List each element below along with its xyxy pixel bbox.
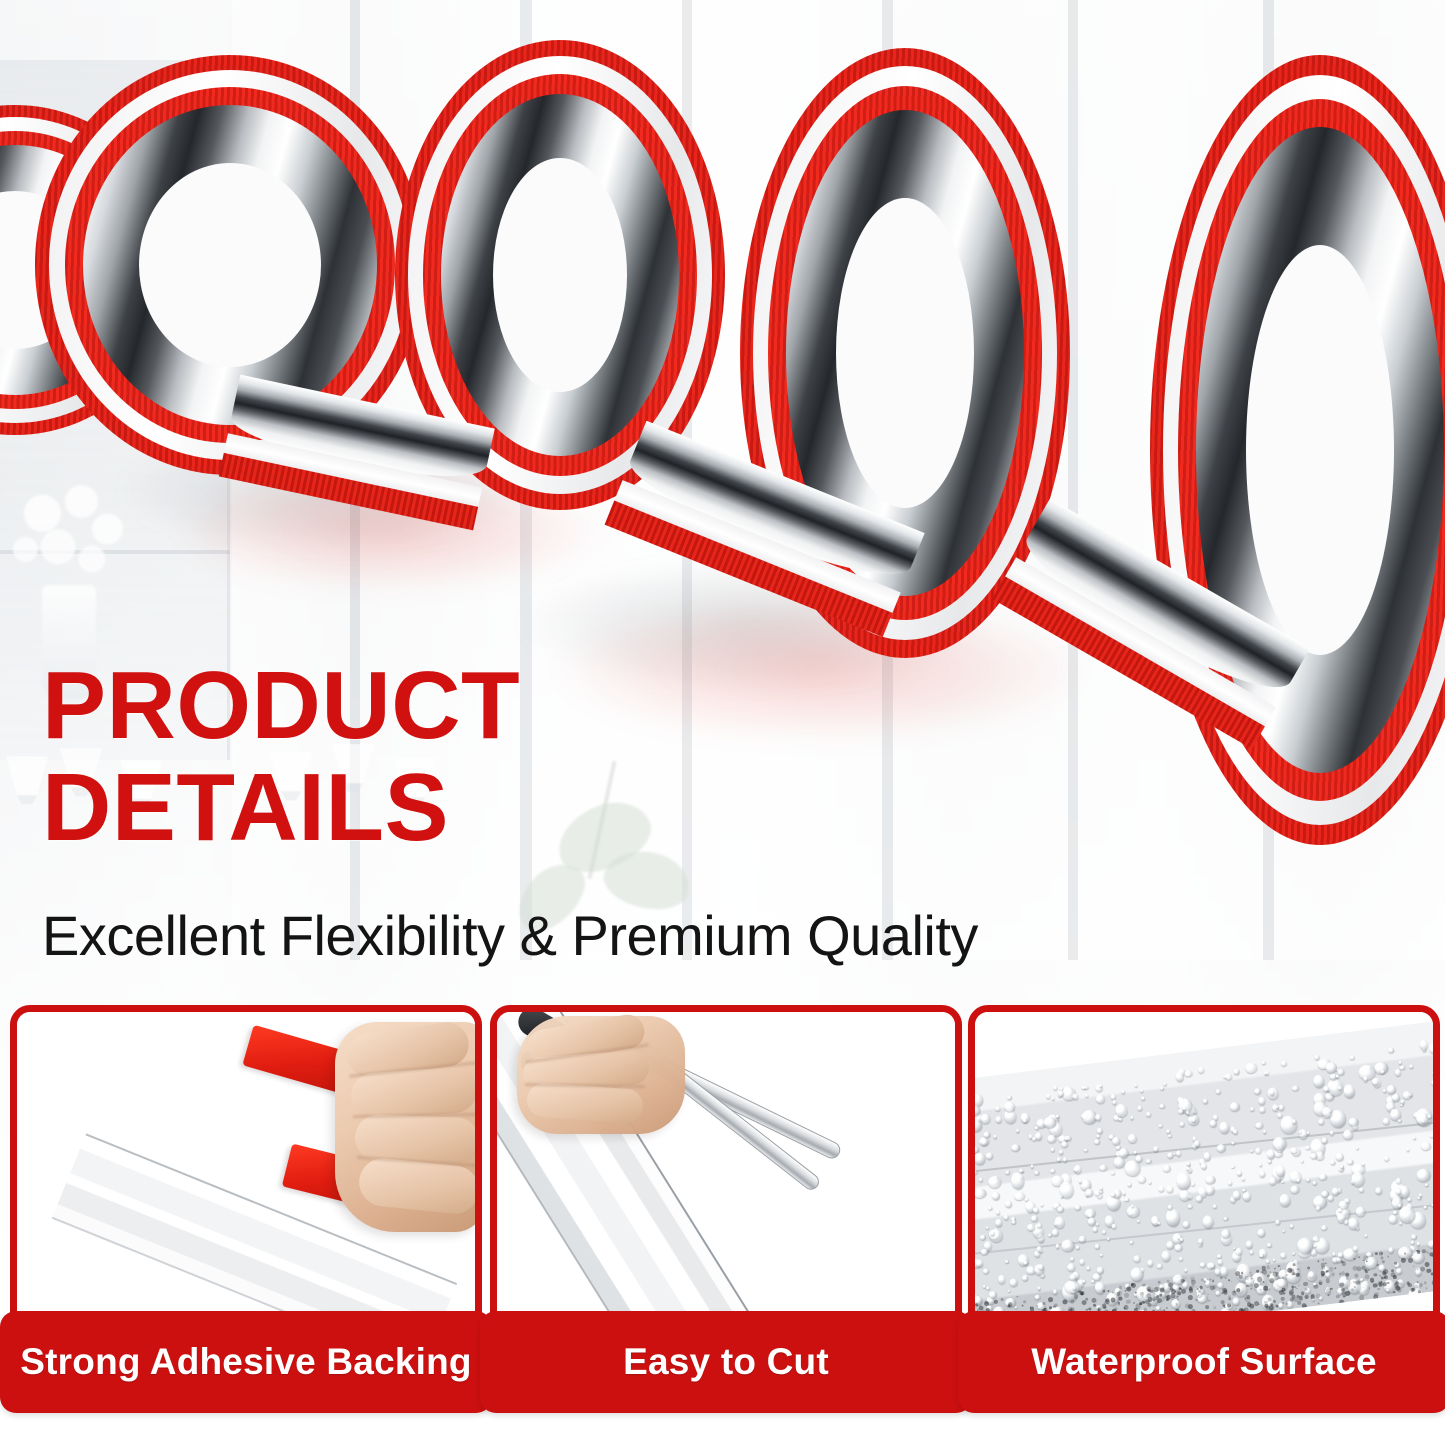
wet-chrome-surface bbox=[975, 1015, 1433, 1349]
page-title: PRODUCT DETAILS bbox=[42, 655, 520, 859]
feature-panel-cut[interactable]: Easy to Cut bbox=[490, 1005, 962, 1413]
feature-panel-adhesive[interactable]: Strong Adhesive Backing bbox=[10, 1005, 482, 1413]
page-title-line-2: DETAILS bbox=[42, 757, 520, 859]
panel-caption-bar: Waterproof Surface bbox=[958, 1311, 1445, 1413]
panel-caption-text: Easy to Cut bbox=[623, 1341, 829, 1383]
panel-caption-bar: Easy to Cut bbox=[480, 1311, 972, 1413]
panel-caption-text: Waterproof Surface bbox=[1031, 1341, 1377, 1383]
panel-caption-bar: Strong Adhesive Backing bbox=[0, 1311, 492, 1413]
feature-panel-waterproof[interactable]: Waterproof Surface bbox=[968, 1005, 1440, 1413]
feature-panel-group: Strong Adhesive Backing bbox=[0, 1005, 1445, 1445]
page-subtitle: Excellent Flexibility & Premium Quality bbox=[42, 903, 978, 968]
product-detail-poster: PRODUCT DETAILS Excellent Flexibility & … bbox=[0, 0, 1445, 1445]
page-title-line-1: PRODUCT bbox=[42, 652, 520, 759]
panel-caption-text: Strong Adhesive Backing bbox=[20, 1341, 471, 1383]
